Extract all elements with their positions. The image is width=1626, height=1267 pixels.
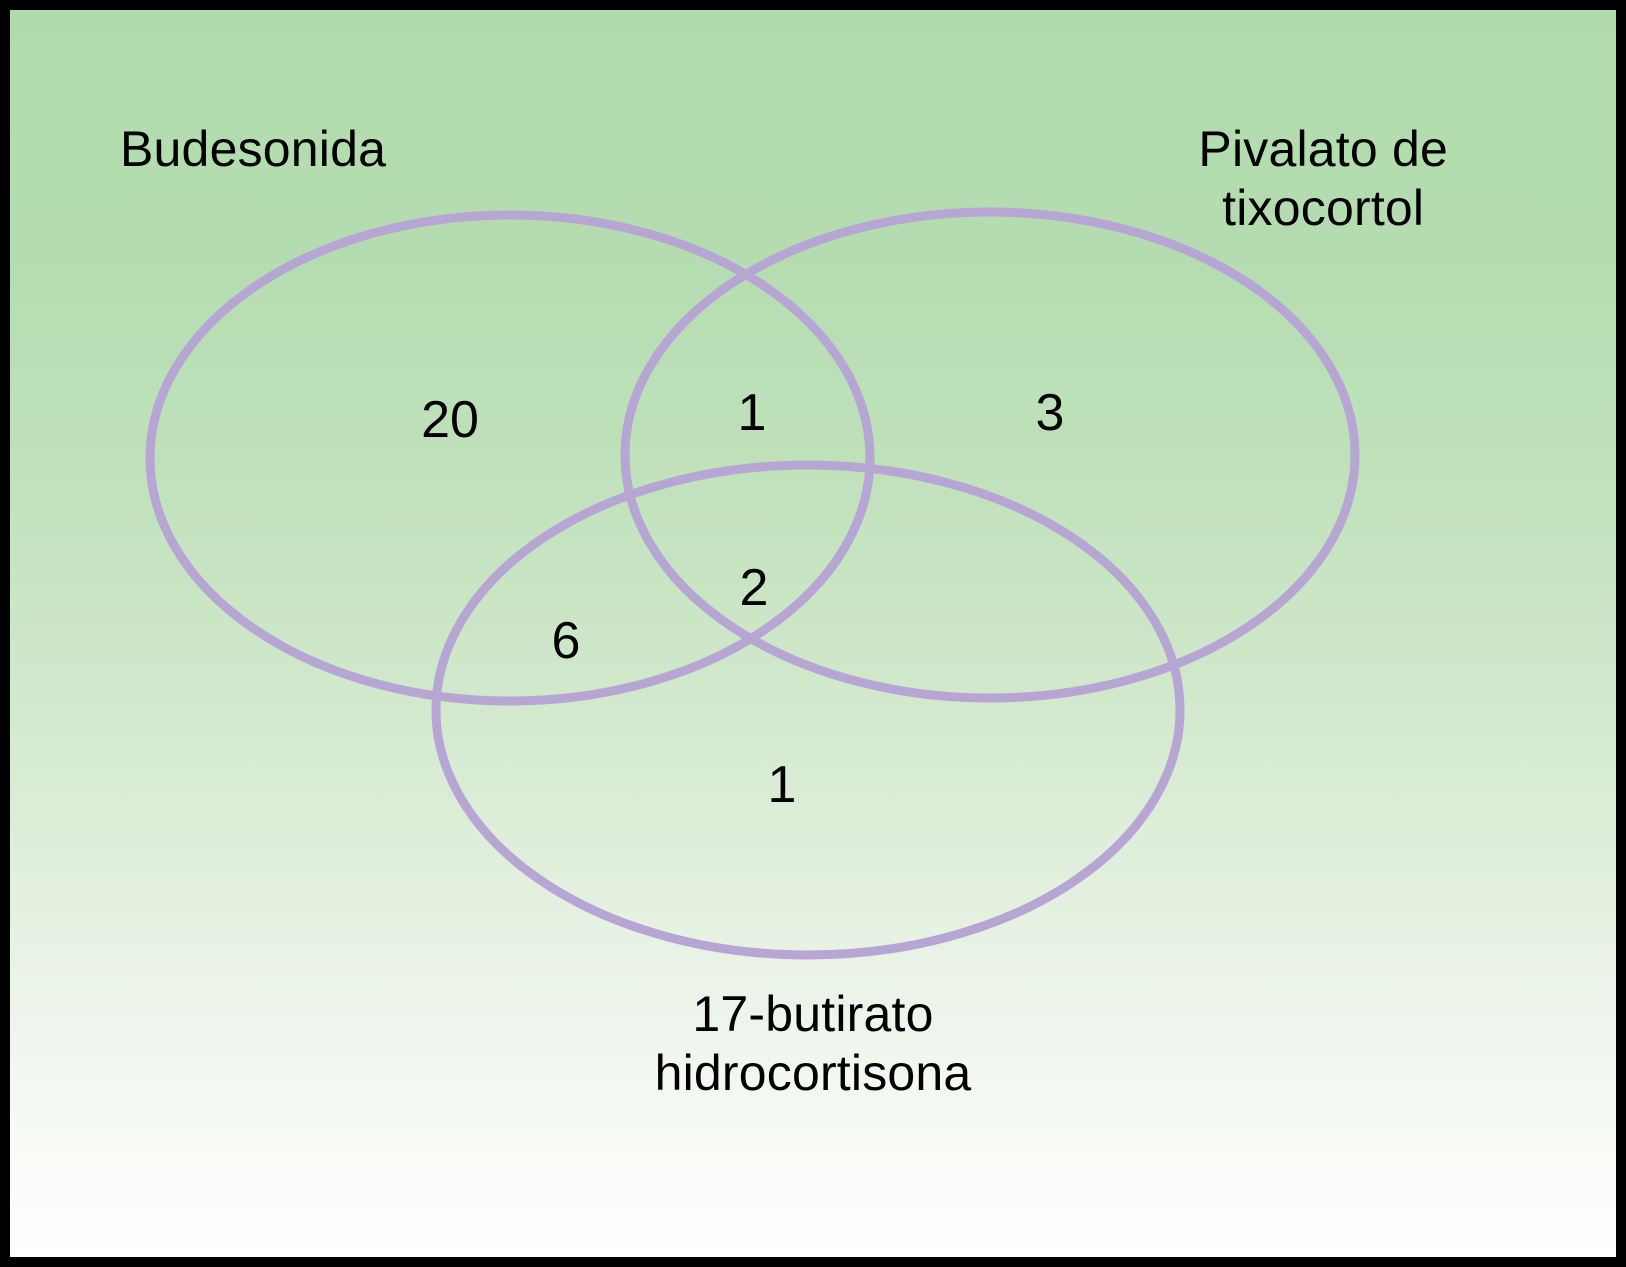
region-count-pivalato-only: 3 [1036, 387, 1065, 439]
venn-diagram-figure: Budesonida Pivalato de tixocortol 17-but… [0, 0, 1626, 1267]
region-count-all-three: 2 [740, 562, 769, 614]
ellipse-pivalato [625, 212, 1355, 698]
set-label-pivalato: Pivalato de tixocortol [1198, 120, 1448, 238]
set-label-hidrocortisona: 17-butirato hidrocortisona [10, 985, 1616, 1103]
region-count-hidrocortisona-only: 1 [768, 759, 797, 811]
ellipse-budesonida [150, 215, 870, 701]
region-count-budesonida-only: 20 [421, 394, 479, 446]
region-count-budesonida-pivalato: 1 [738, 387, 767, 439]
region-count-budesonida-hidrocortisona: 6 [552, 615, 581, 667]
ellipse-hidrocortisona [436, 465, 1180, 955]
set-label-budesonida: Budesonida [120, 120, 386, 179]
